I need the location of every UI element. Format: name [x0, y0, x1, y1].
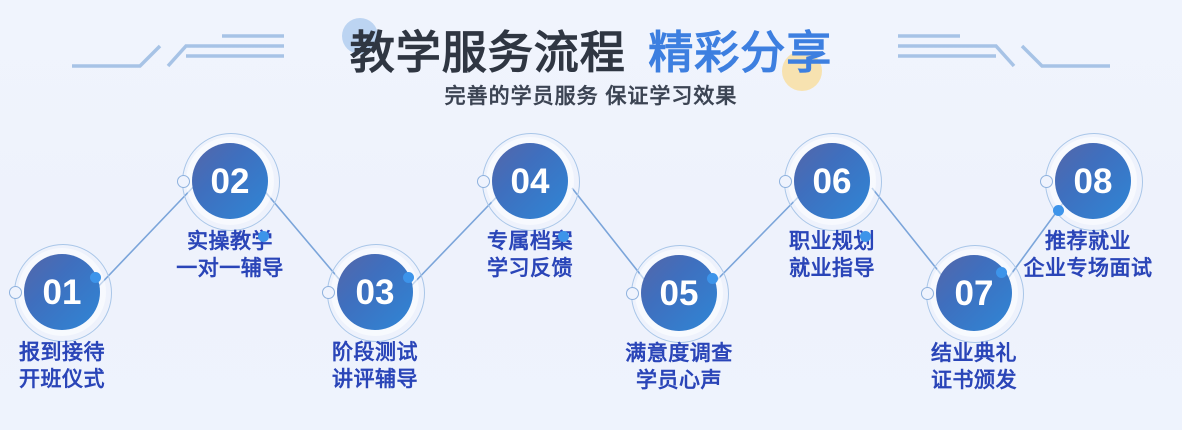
step-label-08: 推荐就业 企业专场面试	[1001, 229, 1175, 283]
step-label-08-line1: 推荐就业	[1001, 229, 1175, 256]
step-label-04: 专属档案 学习反馈	[468, 229, 592, 283]
step-bubble-06[interactable]: 06	[794, 143, 870, 219]
step-label-05-line1: 满意度调查	[604, 341, 754, 368]
ring-dot-icon-02	[177, 175, 190, 188]
step-number-02: 02	[211, 164, 250, 199]
step-label-02-line1: 实操教学	[158, 229, 302, 256]
step-number-07: 07	[955, 276, 994, 311]
infographic-canvas: 教学服务流程 精彩分享 完善的学员服务 保证学习效果 0	[0, 0, 1182, 430]
step-label-01-line2: 开班仪式	[0, 367, 124, 394]
step-number-06: 06	[813, 164, 852, 199]
step-label-03-line1: 阶段测试	[313, 340, 437, 367]
step-label-06-line2: 就业指导	[770, 256, 894, 283]
title-row: 教学服务流程 精彩分享	[0, 16, 1182, 81]
step-number-03: 03	[356, 275, 395, 310]
connector-dot-03	[403, 272, 414, 283]
connector-dot-08	[1053, 205, 1064, 216]
ring-dot-icon-07	[921, 287, 934, 300]
connector-dot-06	[860, 231, 871, 242]
step-label-07: 结业典礼 证书颁发	[912, 341, 1036, 395]
step-label-05-line2: 学员心声	[604, 368, 754, 395]
step-label-03-line2: 讲评辅导	[313, 367, 437, 394]
connector-dot-02	[258, 231, 269, 242]
step-label-02: 实操教学 一对一辅导	[158, 229, 302, 283]
title-wrap: 教学服务流程 精彩分享	[350, 16, 832, 81]
step-bubble-03[interactable]: 03	[337, 254, 413, 330]
step-label-02-line2: 一对一辅导	[158, 256, 302, 283]
step-number-04: 04	[511, 164, 550, 199]
step-label-07-line1: 结业典礼	[912, 341, 1036, 368]
connector-dot-01	[90, 272, 101, 283]
step-number-05: 05	[660, 276, 699, 311]
step-label-03: 阶段测试 讲评辅导	[313, 340, 437, 394]
step-label-06-line1: 职业规划	[770, 229, 894, 256]
process-flow: 01 报到接待 开班仪式 02 实操教学 一对一辅导	[0, 118, 1182, 430]
page-title-accent: 精彩分享	[648, 27, 832, 78]
step-number-08: 08	[1074, 164, 1113, 199]
ring-dot-icon-06	[779, 175, 792, 188]
step-label-01-line1: 报到接待	[0, 340, 124, 367]
step-label-07-line2: 证书颁发	[912, 368, 1036, 395]
header: 教学服务流程 精彩分享 完善的学员服务 保证学习效果	[0, 0, 1182, 120]
page-subtitle: 完善的学员服务 保证学习效果	[0, 80, 1182, 110]
connector-dot-05	[707, 273, 718, 284]
step-bubble-02[interactable]: 02	[192, 143, 268, 219]
step-label-04-line2: 学习反馈	[468, 256, 592, 283]
connector-dot-07	[996, 267, 1007, 278]
connector-dot-04	[558, 231, 569, 242]
step-bubble-01[interactable]: 01	[24, 254, 100, 330]
ring-dot-icon-05	[626, 287, 639, 300]
step-bubble-08[interactable]: 08	[1055, 143, 1131, 219]
step-label-01: 报到接待 开班仪式	[0, 340, 124, 394]
step-label-05: 满意度调查 学员心声	[604, 341, 754, 395]
step-number-01: 01	[43, 275, 82, 310]
step-label-04-line1: 专属档案	[468, 229, 592, 256]
ring-dot-icon-04	[477, 175, 490, 188]
ring-dot-icon-01	[9, 286, 22, 299]
step-bubble-05[interactable]: 05	[641, 255, 717, 331]
step-label-06: 职业规划 就业指导	[770, 229, 894, 283]
ring-dot-icon-08	[1040, 175, 1053, 188]
step-label-08-line2: 企业专场面试	[1001, 256, 1175, 283]
page-title-main: 教学服务流程	[350, 27, 626, 78]
step-bubble-04[interactable]: 04	[492, 143, 568, 219]
ring-dot-icon-03	[322, 286, 335, 299]
